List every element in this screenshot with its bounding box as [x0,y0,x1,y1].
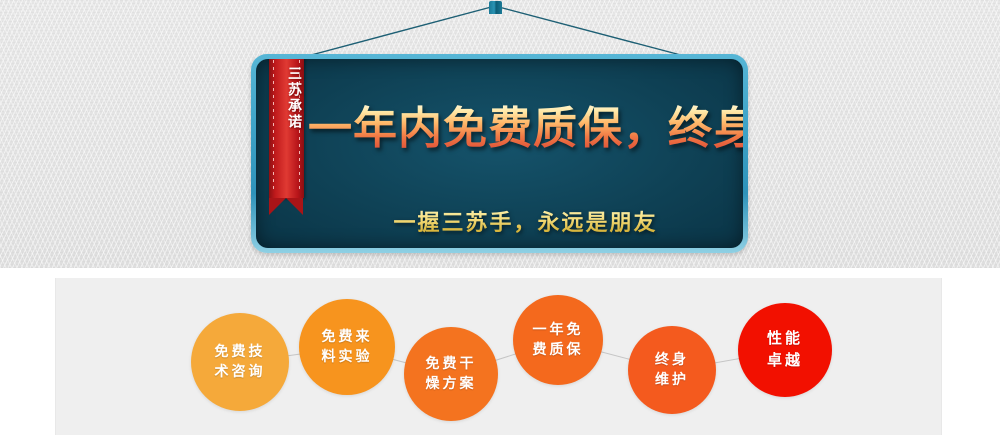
promo-banner-page: 三苏承诺 一年内免费质保，终身维护 一握三苏手，永远是朋友 免费技 术咨询免费来… [0,0,1000,435]
promise-circle-5[interactable]: 终身 维护 [628,326,716,414]
promise-circle-1[interactable]: 免费技 术咨询 [191,313,289,411]
promise-flow-diagram: 免费技 术咨询免费来 料实验免费干 燥方案一年免 费质保终身 维护性能 卓越 [0,268,1000,435]
promise-circle-label: 免费来 料实验 [322,327,373,368]
promise-circle-4[interactable]: 一年免 费质保 [513,295,603,385]
promise-circle-label: 一年免 费质保 [533,320,584,361]
promise-circle-label: 免费技 术咨询 [215,342,266,383]
promise-circle-label: 性能 卓越 [767,328,803,372]
ribbon-badge: 三苏承诺 [269,59,304,198]
banner-subtitle: 一握三苏手，永远是朋友 [308,205,743,237]
promise-circle-label: 终身 维护 [655,350,689,391]
banner-board: 三苏承诺 一年内免费质保，终身维护 一握三苏手，永远是朋友 [256,59,743,248]
ribbon-label: 三苏承诺 [269,66,304,130]
promise-circle-2[interactable]: 免费来 料实验 [299,299,395,395]
promise-circle-6[interactable]: 性能 卓越 [738,303,832,397]
promise-circle-label: 免费干 燥方案 [426,354,477,395]
banner-title: 一年内免费质保，终身维护 [308,103,743,155]
hanging-hook-icon [489,1,502,14]
promise-banner: 三苏承诺 一年内免费质保，终身维护 一握三苏手，永远是朋友 [251,54,748,253]
promise-circle-3[interactable]: 免费干 燥方案 [404,327,498,421]
